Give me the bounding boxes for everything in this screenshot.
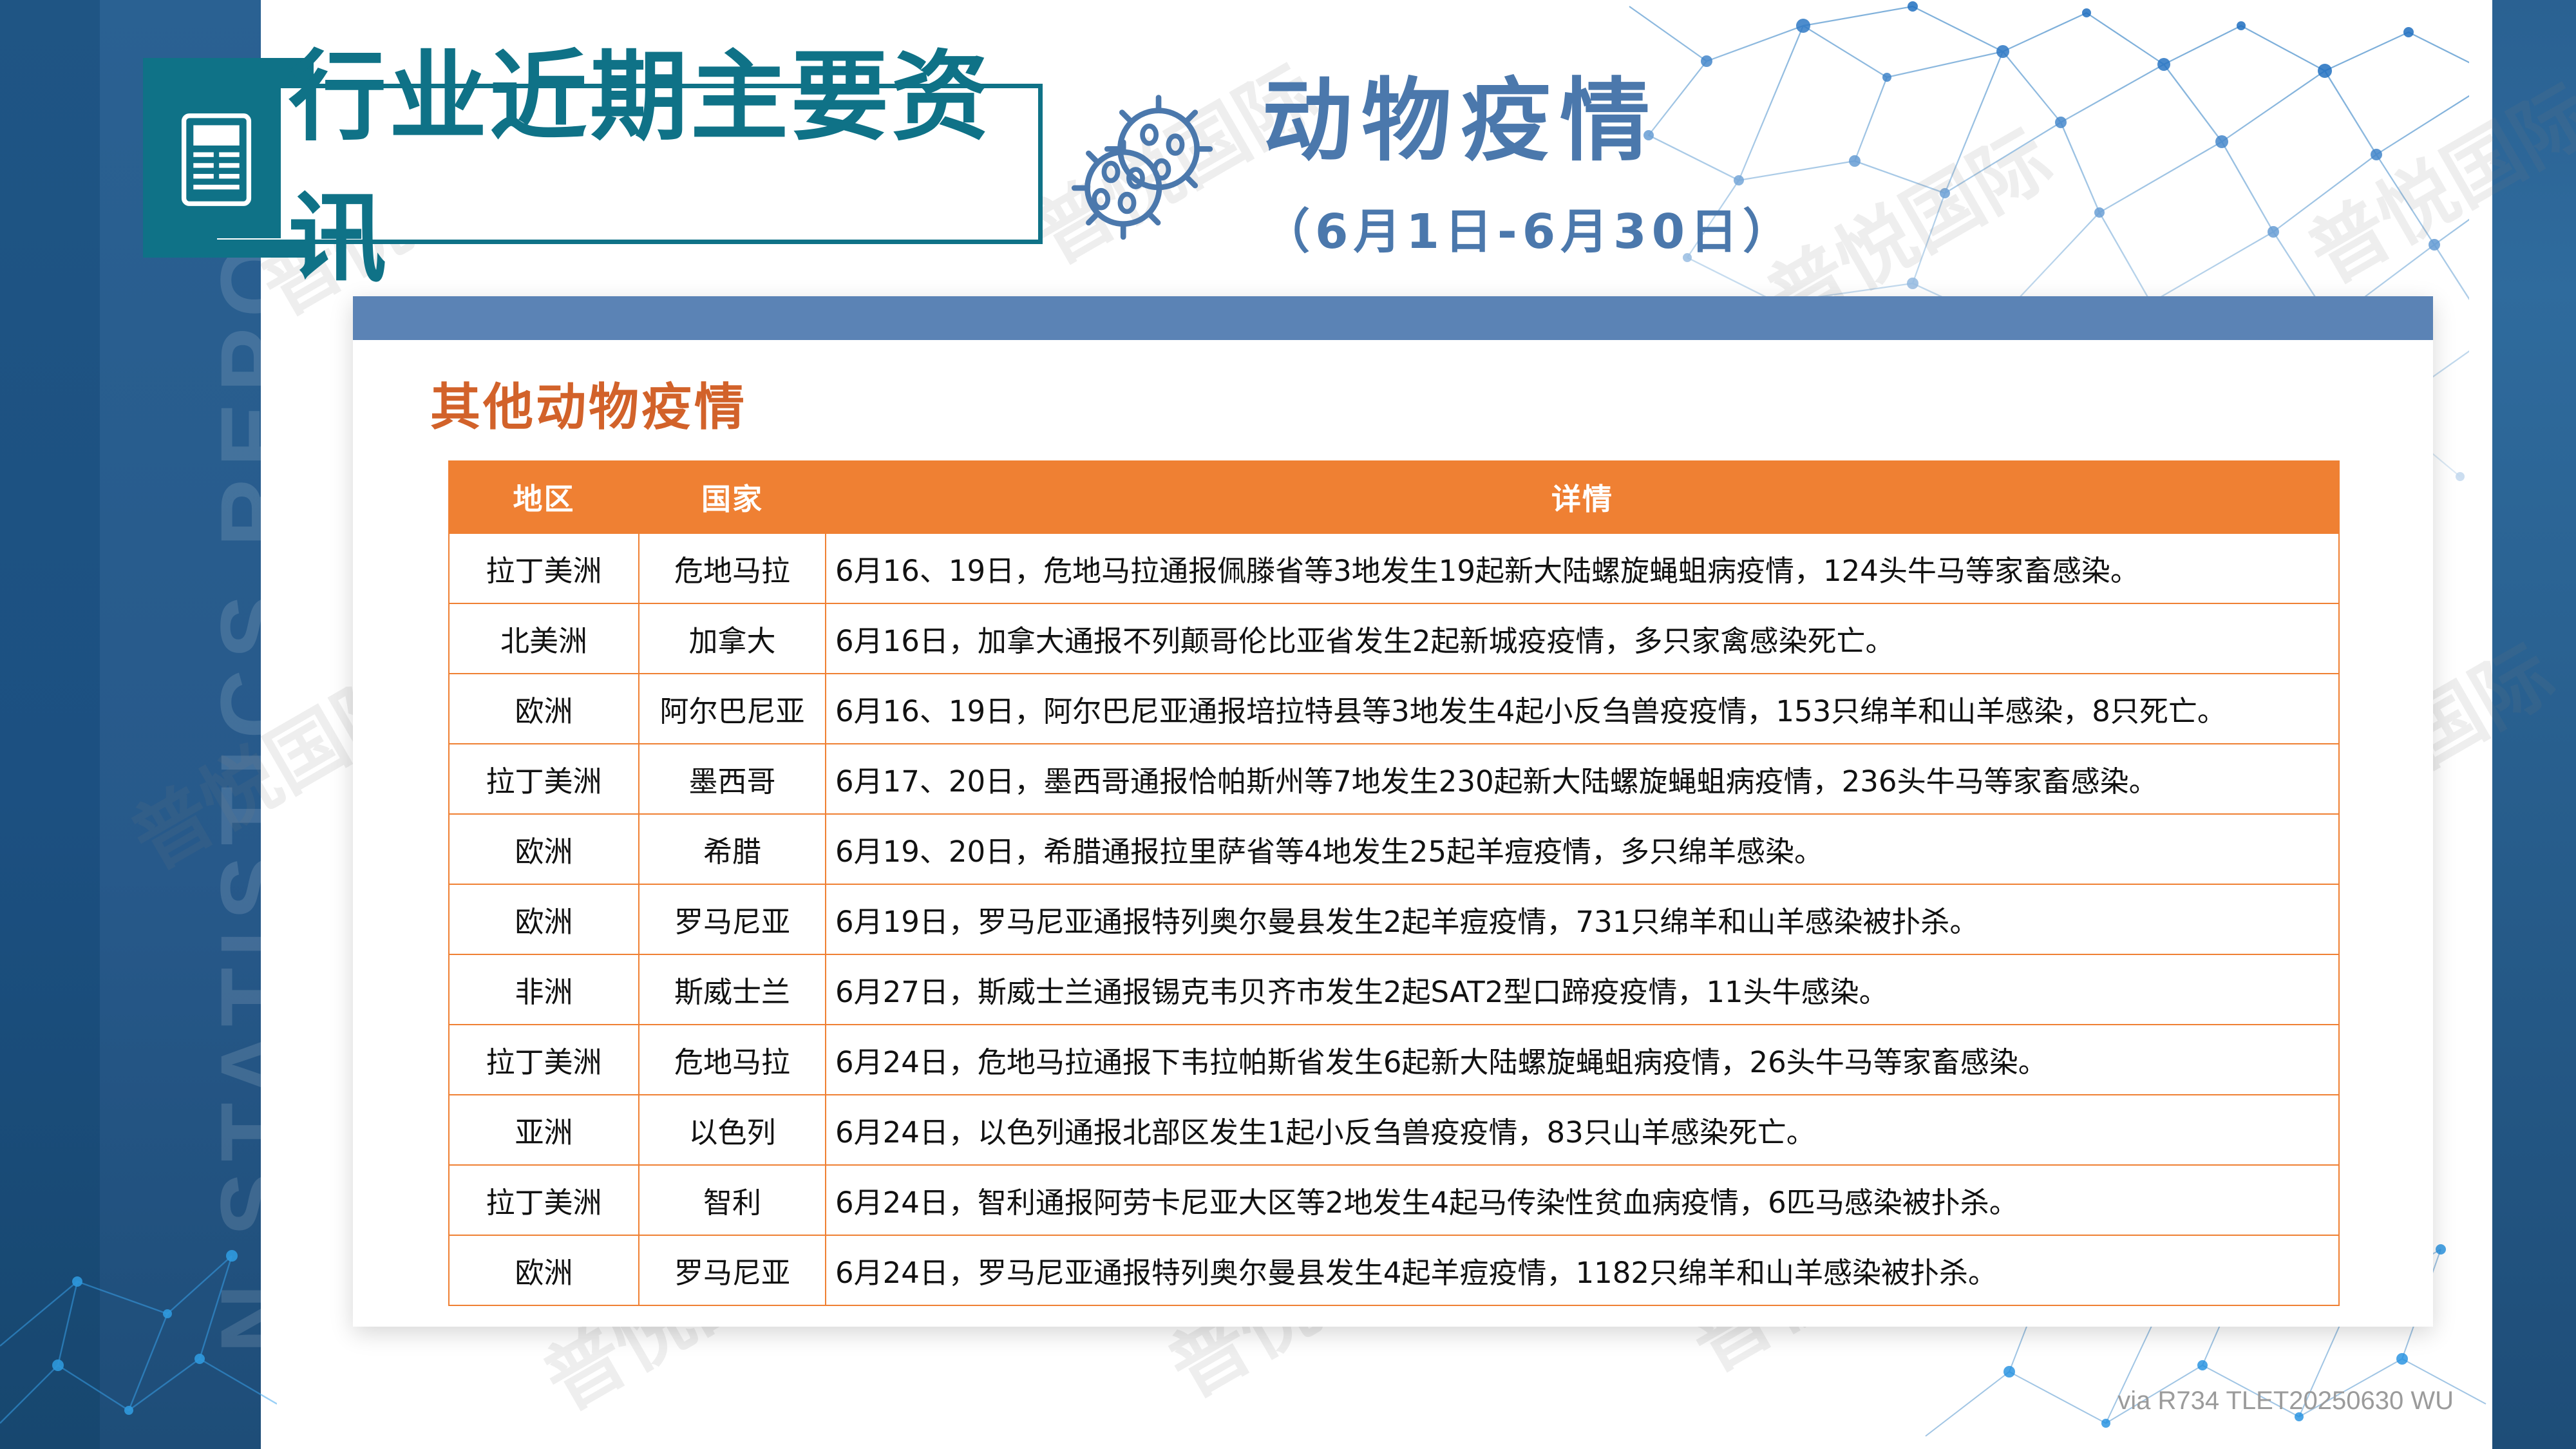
column-header-country: 国家 <box>639 461 826 533</box>
cell-region: 非洲 <box>449 954 639 1025</box>
cell-country: 墨西哥 <box>639 744 826 814</box>
table-row: 欧洲 希腊 6月19、20日，希腊通报拉里萨省等4地发生25起羊痘疫情，多只绵羊… <box>449 814 2339 884</box>
card-header-band <box>353 296 2433 340</box>
cell-country: 以色列 <box>639 1095 826 1165</box>
cell-region: 欧洲 <box>449 814 639 884</box>
table-row: 欧洲 阿尔巴尼亚 6月16、19日，阿尔巴尼亚通报培拉特县等3地发生4起小反刍兽… <box>449 674 2339 744</box>
epidemic-table: 地区 国家 详情 拉丁美洲 危地马拉 6月16、19日，危地马拉通报佩滕省等3地… <box>448 460 2340 1306</box>
table-row: 亚洲 以色列 6月24日，以色列通报北部区发生1起小反刍兽疫疫情，83只山羊感染… <box>449 1095 2339 1165</box>
cell-detail: 6月24日，智利通报阿劳卡尼亚大区等2地发生4起马传染性贫血病疫情，6匹马感染被… <box>826 1165 2339 1235</box>
table-row: 北美洲 加拿大 6月16日，加拿大通报不列颠哥伦比亚省发生2起新城疫疫情，多只家… <box>449 603 2339 674</box>
cell-region: 欧洲 <box>449 1235 639 1305</box>
table-row: 欧洲 罗马尼亚 6月19日，罗马尼亚通报特列奥尔曼县发生2起羊痘疫情，731只绵… <box>449 884 2339 954</box>
table-header-row: 地区 国家 详情 <box>449 461 2339 533</box>
table-row: 拉丁美洲 危地马拉 6月24日，危地马拉通报下韦拉帕斯省发生6起新大陆螺旋蝇蛆病… <box>449 1025 2339 1095</box>
cell-region: 亚洲 <box>449 1095 639 1165</box>
table-row: 拉丁美洲 智利 6月24日，智利通报阿劳卡尼亚大区等2地发生4起马传染性贫血病疫… <box>449 1165 2339 1235</box>
cell-region: 拉丁美洲 <box>449 1025 639 1095</box>
cell-country: 加拿大 <box>639 603 826 674</box>
cell-detail: 6月16、19日，阿尔巴尼亚通报培拉特县等3地发生4起小反刍兽疫疫情，153只绵… <box>826 674 2339 744</box>
cell-region: 拉丁美洲 <box>449 744 639 814</box>
cell-region: 欧洲 <box>449 674 639 744</box>
table-row: 拉丁美洲 危地马拉 6月16、19日，危地马拉通报佩滕省等3地发生19起新大陆螺… <box>449 533 2339 603</box>
page-title: 行业近期主要资讯 <box>289 86 1029 232</box>
cell-country: 罗马尼亚 <box>639 1235 826 1305</box>
cell-country: 危地马拉 <box>639 1025 826 1095</box>
cell-country: 智利 <box>639 1165 826 1235</box>
footer-source: via R734 TLET20250630 WU <box>2117 1387 2454 1416</box>
cell-country: 希腊 <box>639 814 826 884</box>
right-rail <box>2492 0 2576 1449</box>
cell-detail: 6月24日，以色列通报北部区发生1起小反刍兽疫疫情，83只山羊感染死亡。 <box>826 1095 2339 1165</box>
section-subtitle: 动物疫情 <box>1262 74 1659 169</box>
cell-detail: 6月19、20日，希腊通报拉里萨省等4地发生25起羊痘疫情，多只绵羊感染。 <box>826 814 2339 884</box>
cell-country: 斯威士兰 <box>639 954 826 1025</box>
cell-detail: 6月16、19日，危地马拉通报佩滕省等3地发生19起新大陆螺旋蝇蛆病疫情，124… <box>826 533 2339 603</box>
cell-detail: 6月27日，斯威士兰通报锡克韦贝齐市发生2起SAT2型口蹄疫疫情，11头牛感染。 <box>826 954 2339 1025</box>
cell-region: 拉丁美洲 <box>449 1165 639 1235</box>
cell-region: 欧洲 <box>449 884 639 954</box>
content-card: 其他动物疫情 地区 国家 详情 拉丁美洲 危地马拉 6月16、19日，危地马拉通… <box>353 296 2433 1327</box>
table-row: 欧洲 罗马尼亚 6月24日，罗马尼亚通报特列奥尔曼县发生4起羊痘疫情，1182只… <box>449 1235 2339 1305</box>
slide-root: N STATISTICS REPORT 普悦国际 普悦国际 普悦国际 普悦国际 … <box>0 0 2576 1449</box>
table-row: 拉丁美洲 墨西哥 6月17、20日，墨西哥通报恰帕斯州等7地发生230起新大陆螺… <box>449 744 2339 814</box>
network-graphic-sidebar <box>0 1153 277 1449</box>
column-header-region: 地区 <box>449 461 639 533</box>
column-header-detail: 详情 <box>826 461 2339 533</box>
table-body: 拉丁美洲 危地马拉 6月16、19日，危地马拉通报佩滕省等3地发生19起新大陆螺… <box>449 533 2339 1305</box>
cell-detail: 6月16日，加拿大通报不列颠哥伦比亚省发生2起新城疫疫情，多只家禽感染死亡。 <box>826 603 2339 674</box>
cell-detail: 6月19日，罗马尼亚通报特列奥尔曼县发生2起羊痘疫情，731只绵羊和山羊感染被扑… <box>826 884 2339 954</box>
table-row: 非洲 斯威士兰 6月27日，斯威士兰通报锡克韦贝齐市发生2起SAT2型口蹄疫疫情… <box>449 954 2339 1025</box>
cell-region: 北美洲 <box>449 603 639 674</box>
cell-country: 阿尔巴尼亚 <box>639 674 826 744</box>
epidemic-table-wrapper: 地区 国家 详情 拉丁美洲 危地马拉 6月16、19日，危地马拉通报佩滕省等3地… <box>448 460 2338 1306</box>
virus-icon <box>1063 90 1224 251</box>
date-range-label: （6月1日-6月30日） <box>1262 193 1795 262</box>
cell-region: 拉丁美洲 <box>449 533 639 603</box>
cell-detail: 6月24日，罗马尼亚通报特列奥尔曼县发生4起羊痘疫情，1182只绵羊和山羊感染被… <box>826 1235 2339 1305</box>
cell-detail: 6月24日，危地马拉通报下韦拉帕斯省发生6起新大陆螺旋蝇蛆病疫情，26头牛马等家… <box>826 1025 2339 1095</box>
cell-detail: 6月17、20日，墨西哥通报恰帕斯州等7地发生230起新大陆螺旋蝇蛆病疫情，23… <box>826 744 2339 814</box>
cell-country: 罗马尼亚 <box>639 884 826 954</box>
card-section-title: 其他动物疫情 <box>430 367 747 439</box>
newspaper-icon <box>152 80 281 238</box>
cell-country: 危地马拉 <box>639 533 826 603</box>
